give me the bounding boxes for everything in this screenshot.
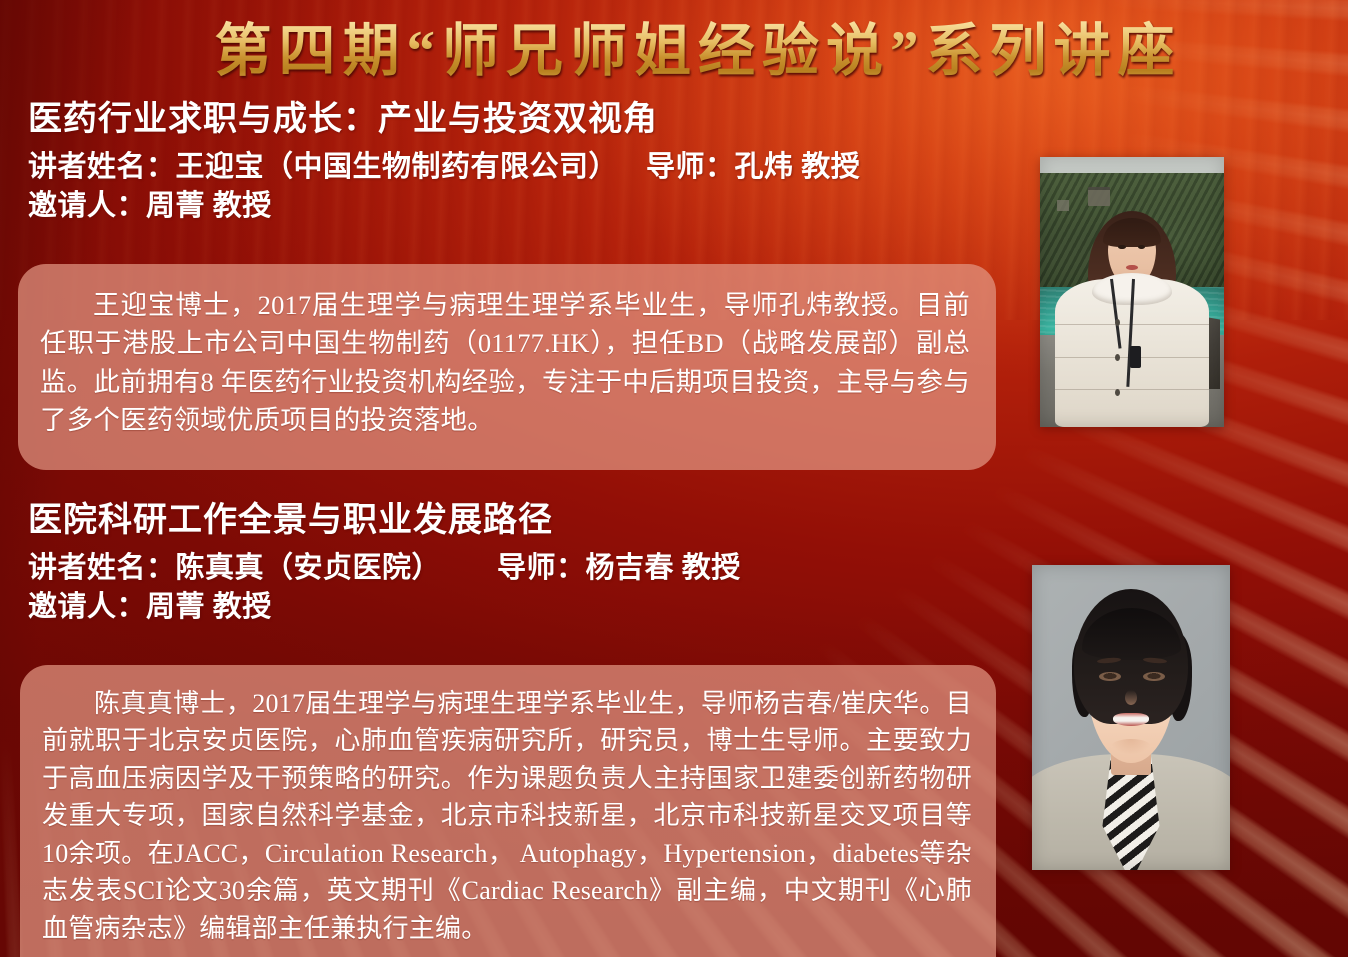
speaker-2-photo <box>1032 565 1230 870</box>
talk-1-inviter-name: 周菁 教授 <box>146 190 272 222</box>
talk-2-speaker-label: 讲者姓名： <box>28 552 176 584</box>
talk-1-title: 医药行业求职与成长：产业与投资双视角 <box>28 99 1018 140</box>
talk-1-bio-text: 王迎宝博士，2017届生理学与病理生理学系毕业生，导师孔炜教授。目前任职于港股上… <box>40 286 970 440</box>
talk-2-title: 医院科研工作全景与职业发展路径 <box>28 500 1018 541</box>
talk-2-inviter-line: 邀请人：周菁 教授 <box>28 588 1018 626</box>
talk-1-speaker-label: 讲者姓名： <box>28 151 176 183</box>
poster-header: 第四期“师兄师姐经验说”系列讲座 <box>0 0 1348 92</box>
talk-2-speaker-name: 陈真真（安贞医院） <box>176 552 442 584</box>
speaker-1-photo-vignette <box>1040 157 1224 427</box>
talk-block-1: 医药行业求职与成长：产业与投资双视角 讲者姓名：王迎宝（中国生物制药有限公司）导… <box>28 99 1018 225</box>
talk-2-advisor-name: 杨吉春 教授 <box>586 552 741 584</box>
talk-1-speaker-name: 王迎宝（中国生物制药有限公司） <box>176 151 619 183</box>
talk-2-inviter-name: 周菁 教授 <box>146 591 272 623</box>
talk-2-bio-panel: 陈真真博士，2017届生理学与病理生理学系毕业生，导师杨吉春/崔庆华。目前就职于… <box>20 665 996 957</box>
talk-1-speaker-line: 讲者姓名：王迎宝（中国生物制药有限公司）导师：孔炜 教授 <box>28 148 1018 186</box>
talk-1-advisor-label: 导师： <box>646 151 735 183</box>
talk-2-speaker-line: 讲者姓名：陈真真（安贞医院）导师：杨吉春 教授 <box>28 549 1018 587</box>
lecture-poster: 第四期“师兄师姐经验说”系列讲座 医药行业求职与成长：产业与投资双视角 讲者姓名… <box>0 0 1348 957</box>
poster-title: 第四期“师兄师姐经验说”系列讲座 <box>191 5 1182 87</box>
talk-2-inviter-label: 邀请人： <box>28 591 146 623</box>
talk-block-2: 医院科研工作全景与职业发展路径 讲者姓名：陈真真（安贞医院）导师：杨吉春 教授 … <box>28 500 1018 626</box>
talk-1-inviter-line: 邀请人：周菁 教授 <box>28 187 1018 225</box>
talk-2-advisor-label: 导师： <box>497 552 586 584</box>
speaker-2-photo-vignette <box>1032 565 1230 870</box>
talk-2-bio-text: 陈真真博士，2017届生理学与病理生理学系毕业生，导师杨吉春/崔庆华。目前就职于… <box>42 685 972 947</box>
talk-1-advisor-name: 孔炜 教授 <box>735 151 861 183</box>
talk-1-inviter-label: 邀请人： <box>28 190 146 222</box>
talk-1-bio-panel: 王迎宝博士，2017届生理学与病理生理学系毕业生，导师孔炜教授。目前任职于港股上… <box>18 264 996 470</box>
speaker-1-photo <box>1040 157 1224 427</box>
